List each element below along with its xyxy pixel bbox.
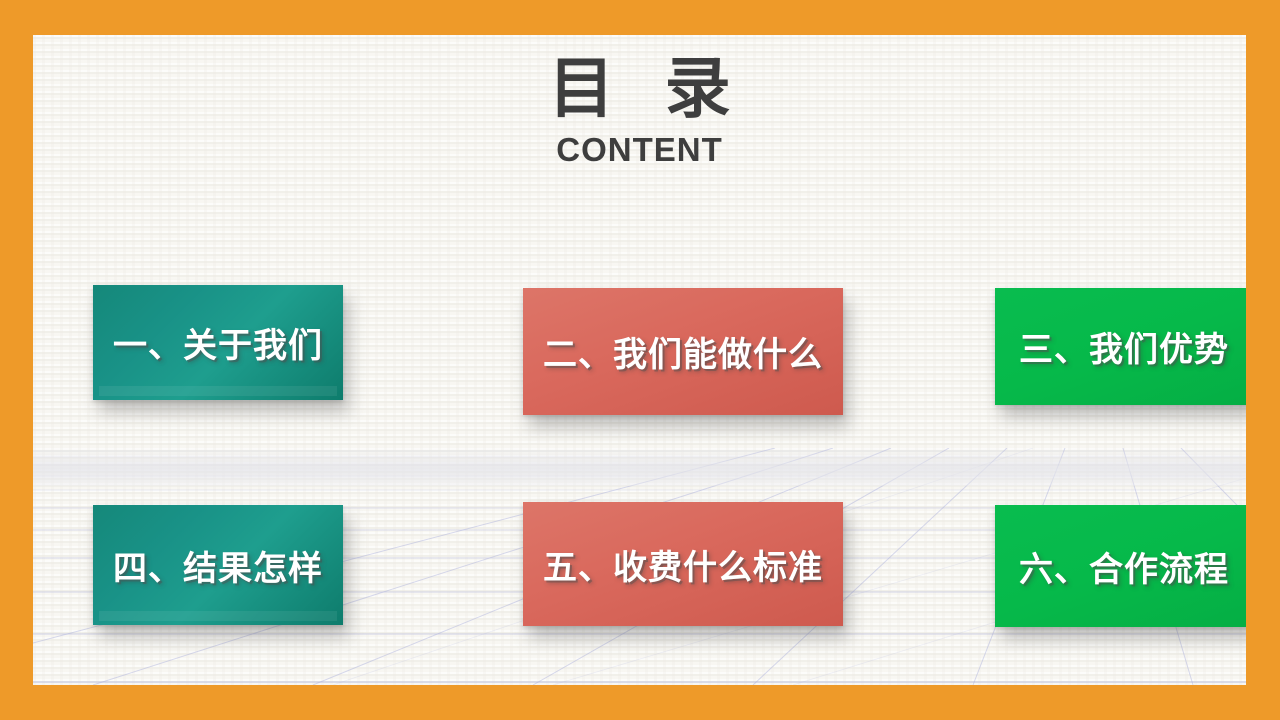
- content-item-3[interactable]: 三、我们优势: [995, 288, 1246, 405]
- page-subtitle: CONTENT: [33, 131, 1246, 169]
- content-item-6[interactable]: 六、合作流程: [995, 505, 1246, 627]
- content-item-1[interactable]: 一、关于我们: [93, 285, 343, 400]
- slide-canvas: 目 录 CONTENT 一、关于我们 二、我们能做什么 三、我们优势 四、结果怎…: [0, 0, 1280, 720]
- page-header: 目 录 CONTENT: [33, 55, 1246, 169]
- content-item-5[interactable]: 五、收费什么标准: [523, 502, 843, 626]
- content-item-4[interactable]: 四、结果怎样: [93, 505, 343, 625]
- content-item-2[interactable]: 二、我们能做什么: [523, 288, 843, 415]
- page-title: 目 录: [33, 55, 1246, 121]
- slide-inner-canvas: 目 录 CONTENT 一、关于我们 二、我们能做什么 三、我们优势 四、结果怎…: [33, 35, 1246, 685]
